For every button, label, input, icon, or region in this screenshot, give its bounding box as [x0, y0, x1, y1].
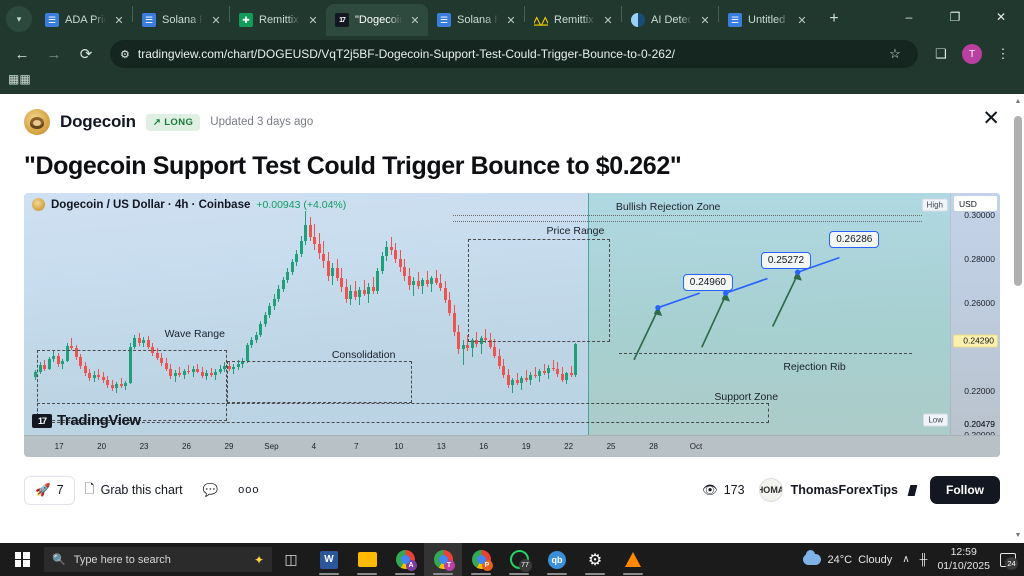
weather-temp: 24°C	[827, 554, 852, 566]
browser-window: ▾ ☰ ADA Price ✕ ☰ Solana Pric ✕ ✚ Remitt…	[0, 0, 1024, 543]
idea-actions-right: 👁 173 HOMA ThomasForexTips Follow	[702, 476, 1000, 504]
idea-actions: 🚀 7 🗋 Grab this chart 💬 ooo 👁 173 HOMA	[24, 473, 1000, 507]
apps-grid-icon[interactable]: ▦▦	[8, 72, 31, 86]
browser-menu-icon[interactable]: ⋮	[990, 41, 1016, 67]
browser-tab-2[interactable]: ☰ Solana Pric ✕	[133, 4, 229, 36]
window-maximize-button[interactable]: ❐	[932, 0, 978, 34]
browser-tab-6[interactable]: △△ Remittix | C ✕	[525, 4, 621, 36]
chevron-up-icon[interactable]: ∧	[902, 554, 909, 565]
tab-close-icon[interactable]: ✕	[112, 14, 126, 27]
chrome-icon-p: P	[472, 550, 491, 569]
grab-chart-button[interactable]: 🗋 Grab this chart	[75, 474, 193, 507]
tradingview-logo-text: TradingView	[57, 412, 141, 429]
settings-icon: ⚙	[588, 550, 602, 570]
views-count-label: 173	[724, 483, 745, 497]
bookmark-star-icon[interactable]: ☆	[882, 41, 908, 67]
windows-taskbar: 🔍 Type here to search ✦ ◫ W A T P 77 qb …	[0, 543, 1024, 576]
tradingview-icon: 17	[335, 13, 349, 27]
taskbar-app-settings[interactable]: ⚙	[576, 543, 614, 576]
status-badge: ↗ LONG	[146, 114, 200, 131]
target-callout-1: 0.24960	[683, 274, 733, 291]
profile-avatar[interactable]: T	[962, 44, 982, 64]
verified-badge-icon	[908, 485, 918, 496]
browser-tab-7[interactable]: AI Detecto ✕	[622, 4, 718, 36]
chrome-icon-a: A	[396, 550, 415, 569]
cloud-icon	[803, 554, 821, 565]
tradingview-watermark: TradingView	[32, 412, 141, 429]
target-callout-3: 0.26286	[829, 231, 879, 248]
asset-name: Dogecoin	[60, 112, 136, 132]
tab-close-icon[interactable]: ✕	[408, 14, 422, 27]
forward-icon[interactable]: →	[40, 40, 68, 68]
rocket-icon: 🚀	[35, 483, 51, 498]
taskbar-app-whatsapp[interactable]: 77	[500, 543, 538, 576]
tab-title: "Dogecoin	[355, 4, 402, 36]
sheets-green-icon: ✚	[239, 13, 253, 27]
status-badge-label: LONG	[164, 117, 193, 128]
reload-icon[interactable]: ⟳	[72, 40, 100, 68]
arrow-up-right-icon: ↗	[153, 117, 161, 128]
notification-count-badge: 24	[1005, 557, 1018, 570]
browser-tab-5[interactable]: ☰ Solana Pric ✕	[428, 4, 524, 36]
doc-blue-icon: ☰	[437, 13, 451, 27]
qbittorrent-icon: qb	[548, 551, 566, 569]
idea-header: Dogecoin ↗ LONG Updated 3 days ago ✕ "Do…	[0, 94, 1024, 181]
doc-blue-icon: ☰	[142, 13, 156, 27]
browser-toolbar: ← → ⟳ ⚙ tradingview.com/chart/DOGEUSD/Vq…	[0, 36, 1024, 72]
tab-close-icon[interactable]: ✕	[504, 14, 518, 27]
tradingview-logo-icon	[32, 414, 52, 428]
tab-title: Remittix A	[259, 4, 300, 36]
page-content: ▲ ▼ Dogecoin ↗ LONG Updated 3 days ago ✕…	[0, 94, 1024, 543]
boost-count: 7	[57, 483, 64, 497]
taskbar-app-vlc[interactable]	[614, 543, 652, 576]
follow-button[interactable]: Follow	[930, 476, 1000, 504]
tab-title: Solana Pric	[457, 4, 498, 36]
word-icon: W	[320, 551, 338, 569]
browser-tab-8[interactable]: ☰ Untitled do ✕	[719, 4, 815, 36]
whatsapp-icon: 77	[510, 550, 529, 569]
tab-search-icon[interactable]: ▾	[6, 6, 32, 32]
idea-meta-row: Dogecoin ↗ LONG Updated 3 days ago	[24, 108, 1000, 136]
taskbar-app-chrome-p[interactable]: P	[462, 543, 500, 576]
close-icon[interactable]: ✕	[982, 108, 1000, 129]
page-title: "Dogecoin Support Test Could Trigger Bou…	[24, 152, 1000, 181]
more-options-button[interactable]: ooo	[228, 478, 269, 502]
tab-title: Solana Pric	[162, 4, 203, 36]
magnifier-icon: 🔍	[52, 553, 66, 566]
clock-time: 12:59	[937, 546, 990, 559]
taskbar-app-chrome-a[interactable]: A	[386, 543, 424, 576]
start-button[interactable]	[0, 543, 44, 576]
weather-widget[interactable]: 24°C Cloudy	[803, 554, 892, 566]
taskbar-app-qbittorrent[interactable]: qb	[538, 543, 576, 576]
chart-container[interactable]: Dogecoin / US Dollar · 4h · Coinbase +0.…	[24, 193, 1000, 457]
vlc-icon	[625, 552, 641, 567]
task-view-button[interactable]: ◫	[272, 543, 310, 576]
eye-icon: 👁	[702, 483, 718, 498]
url-text: tradingview.com/chart/DOGEUSD/VqT2j5BF-D…	[138, 47, 874, 61]
taskbar-app-chrome-t[interactable]: T	[424, 543, 462, 576]
boost-button[interactable]: 🚀 7	[24, 476, 75, 505]
start-icon	[15, 552, 30, 567]
chrome-icon-t: T	[434, 550, 453, 569]
clock-date: 01/10/2025	[937, 560, 990, 573]
site-settings-icon[interactable]: ⚙	[120, 48, 130, 61]
circle-blue-icon	[631, 13, 645, 27]
taskbar-app-word[interactable]: W	[310, 543, 348, 576]
search-input[interactable]: 🔍 Type here to search ✦	[44, 547, 272, 572]
address-bar[interactable]: ⚙ tradingview.com/chart/DOGEUSD/VqT2j5BF…	[110, 40, 918, 68]
tab-title: Untitled do	[748, 4, 789, 36]
tab-close-icon[interactable]: ✕	[306, 14, 320, 27]
tab-strip: ▾ ☰ ADA Price ✕ ☰ Solana Pric ✕ ✚ Remitt…	[0, 0, 1024, 36]
bookmark-bar: ▦▦	[0, 70, 1024, 94]
tab-title: ADA Price	[65, 4, 106, 36]
scroll-down-arrow-icon[interactable]: ▼	[1014, 532, 1022, 539]
tab-title: AI Detecto	[651, 4, 692, 36]
taskbar-app-file-explorer[interactable]	[348, 543, 386, 576]
tab-close-icon[interactable]: ✕	[795, 14, 809, 27]
mm-yellow-icon: △△	[534, 13, 548, 27]
tab-close-icon[interactable]: ✕	[209, 14, 223, 27]
whatsapp-badge: 77	[519, 559, 532, 572]
dogecoin-avatar	[24, 109, 50, 135]
doc-blue-icon: ☰	[45, 13, 59, 27]
target-callout-2: 0.25272	[761, 252, 811, 269]
sparkle-icon[interactable]: ✦	[254, 553, 264, 567]
tab-close-icon[interactable]: ✕	[698, 14, 712, 27]
weather-desc: Cloudy	[858, 554, 892, 566]
copy-chart-icon: 🗋	[85, 480, 95, 501]
view-count: 👁 173	[702, 483, 745, 498]
new-tab-button[interactable]: +	[821, 6, 847, 32]
comment-icon: 💬	[203, 483, 219, 498]
bluetooth-icon[interactable]: ╫	[920, 554, 928, 566]
author-name[interactable]: ThomasForexTips	[791, 483, 898, 497]
browser-tab-1[interactable]: ☰ ADA Price ✕	[36, 4, 132, 36]
updated-timestamp: Updated 3 days ago	[210, 116, 313, 128]
window-close-button[interactable]: ✕	[978, 0, 1024, 34]
search-placeholder: Type here to search	[74, 554, 171, 566]
window-minimize-button[interactable]: –	[886, 0, 932, 34]
avatar[interactable]: HOMA	[759, 478, 783, 502]
file-explorer-icon	[358, 552, 377, 567]
tab-title: Remittix | C	[554, 4, 595, 36]
cast-icon[interactable]: ❑	[928, 41, 954, 67]
back-icon[interactable]: ←	[8, 40, 36, 68]
more-icon: ooo	[238, 484, 259, 496]
grab-chart-label: Grab this chart	[101, 483, 183, 497]
window-controls: – ❐ ✕	[886, 0, 1024, 34]
browser-tab-3[interactable]: ✚ Remittix A ✕	[230, 4, 326, 36]
tab-close-icon[interactable]: ✕	[601, 14, 615, 27]
author-block[interactable]: HOMA ThomasForexTips	[759, 478, 916, 502]
browser-tab-4-active[interactable]: 17 "Dogecoin ✕	[326, 4, 428, 36]
system-tray: 24°C Cloudy ∧ ╫ 12:59 01/10/2025 24	[803, 546, 1024, 572]
doc-blue-icon: ☰	[728, 13, 742, 27]
notifications-icon[interactable]: 24	[1000, 553, 1016, 567]
comment-button[interactable]: 💬	[193, 477, 229, 504]
clock[interactable]: 12:59 01/10/2025	[937, 546, 990, 572]
